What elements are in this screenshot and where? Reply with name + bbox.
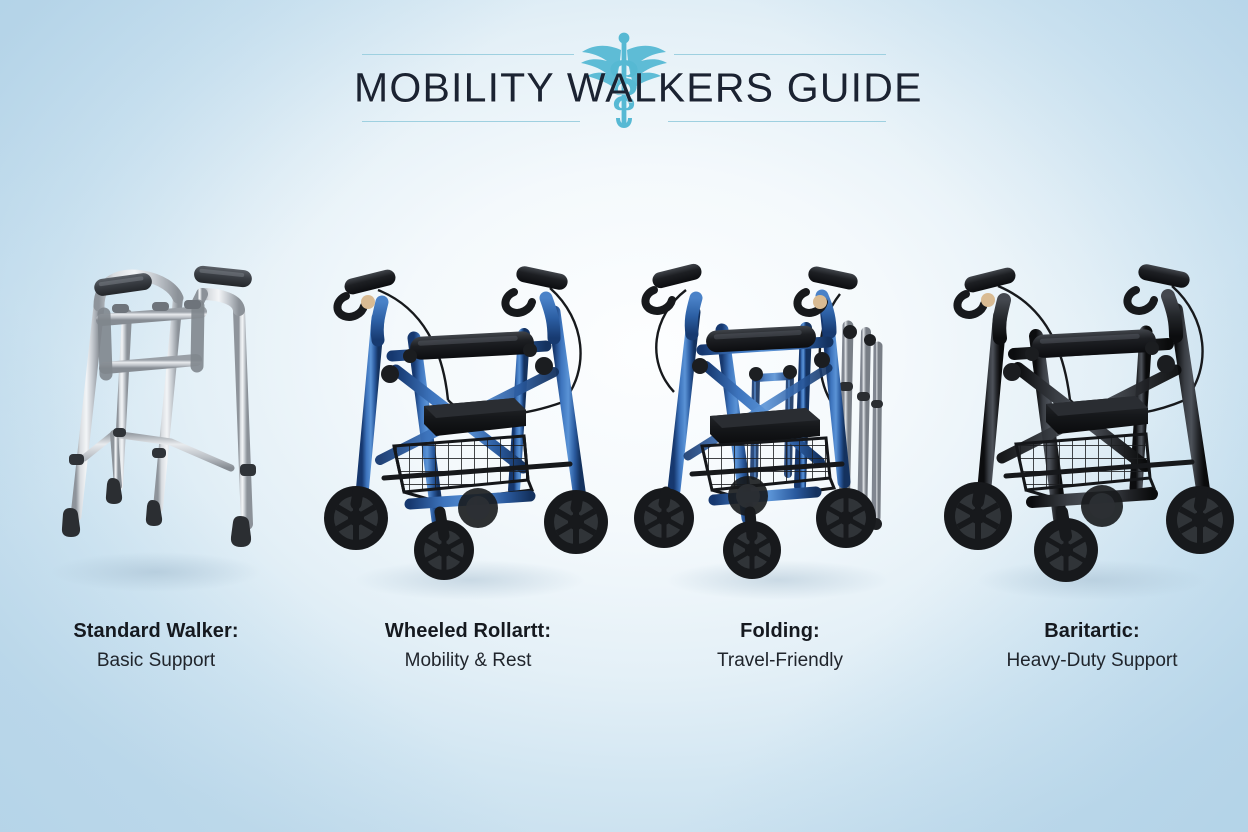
wheeled-rollator-illustration <box>318 250 618 610</box>
caption-title: Baritartic: <box>936 616 1248 646</box>
caption-title: Folding: <box>624 616 936 646</box>
caption-subtitle: Travel-Friendly <box>624 646 936 676</box>
poster-canvas: MOBILITY WALKERS GUIDE <box>0 0 1248 832</box>
header: MOBILITY WALKERS GUIDE <box>0 38 1248 138</box>
folding-rollator-illustration <box>630 250 930 610</box>
caption-bariatric-rollator: Baritartic: Heavy-Duty Support <box>936 616 1248 696</box>
header-rule-top-right <box>674 54 886 55</box>
header-rule-bottom-right <box>668 121 886 122</box>
bariatric-rollator-illustration <box>942 250 1242 610</box>
caption-standard-walker: Standard Walker: Basic Support <box>0 616 312 696</box>
standard-walker-illustration <box>6 250 306 610</box>
caption-title: Wheeled Rollartt: <box>312 616 624 646</box>
header-rule-bottom-left <box>362 121 580 122</box>
header-rule-top-left <box>362 54 574 55</box>
caption-wheeled-rollator: Wheeled Rollartt: Mobility & Rest <box>312 616 624 696</box>
caption-subtitle: Mobility & Rest <box>312 646 624 676</box>
caption-subtitle: Heavy-Duty Support <box>936 646 1248 676</box>
caption-folding-rollator: Folding: Travel-Friendly <box>624 616 936 696</box>
caption-subtitle: Basic Support <box>0 646 312 676</box>
caption-title: Standard Walker: <box>0 616 312 646</box>
caption-row: Standard Walker: Basic Support Wheeled R… <box>0 616 1248 696</box>
page-title: MOBILITY WALKERS GUIDE <box>354 65 894 112</box>
